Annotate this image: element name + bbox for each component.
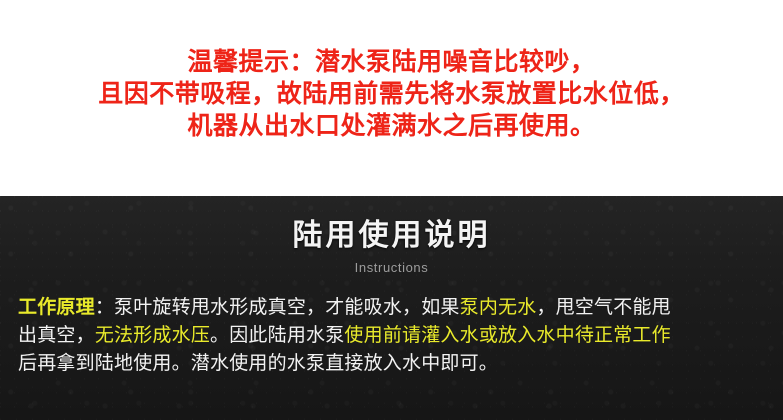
warning-line-1: 温馨提示：潜水泵陆用噪音比较吵， [18,46,765,78]
instructions-header: 陆用使用说明 Instructions [0,196,783,276]
highlight-cannot-form-pressure: 无法形成水压 [95,325,210,346]
working-principle-label: 工作原理 [18,297,95,318]
highlight-no-water-in-pump: 泵内无水 [460,297,537,318]
warning-banner: 温馨提示：潜水泵陆用噪音比较吵， 且因不带吸程，故陆用前需先将水泵放置比水位低，… [0,0,783,196]
instructions-panel: 陆用使用说明 Instructions 工作原理：泵叶旋转甩水形成真空，才能吸水… [0,196,783,420]
instructions-text-1b: ，甩空气不能甩 [536,297,670,318]
warning-line-3: 机器从出水口处灌满水之后再使用。 [18,110,765,142]
instructions-text-1a: ：泵叶旋转甩水形成真空，才能吸水，如果 [95,297,460,318]
highlight-fill-with-water: 使用前请灌入水或放入水中待正常工作 [344,325,670,346]
instructions-text-3a: 后再拿到陆地使用。潜水使用的水泵直接放入水中即可。 [18,353,498,374]
instructions-body: 工作原理：泵叶旋转甩水形成真空，才能吸水，如果泵内无水，甩空气不能甩 出真空，无… [0,276,783,378]
instructions-text-2a: 出真空， [18,325,95,346]
product-instruction-image: 温馨提示：潜水泵陆用噪音比较吵， 且因不带吸程，故陆用前需先将水泵放置比水位低，… [0,0,783,420]
instructions-body-line-3: 后再拿到陆地使用。潜水使用的水泵直接放入水中即可。 [18,350,767,378]
warning-line-2: 且因不带吸程，故陆用前需先将水泵放置比水位低， [18,78,765,110]
panel-title: 陆用使用说明 [0,218,783,254]
panel-subtitle: Instructions [0,260,783,276]
instructions-text-2b: 。因此陆用水泵 [210,325,344,346]
instructions-body-line-2: 出真空，无法形成水压。因此陆用水泵使用前请灌入水或放入水中待正常工作 [18,322,767,350]
instructions-body-line-1: 工作原理：泵叶旋转甩水形成真空，才能吸水，如果泵内无水，甩空气不能甩 [18,294,767,322]
